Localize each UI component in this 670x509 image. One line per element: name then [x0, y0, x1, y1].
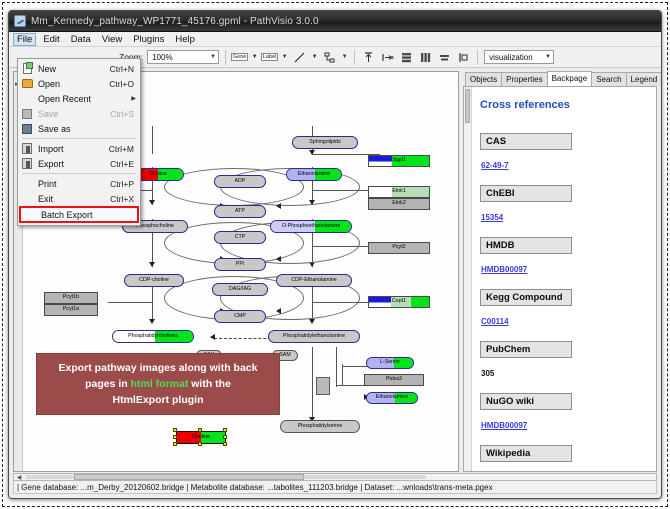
pathvisio-window: Mm_Kennedy_pathway_WP1771_45176.gpml - P…: [8, 10, 662, 499]
node-ethanolamine-bottom[interactable]: Ethanolamine: [366, 392, 418, 404]
node-label: L-Serine: [380, 360, 400, 365]
toolbar-separator-2: [354, 50, 355, 65]
menu-item-exit[interactable]: Exit Ctrl+X: [18, 191, 140, 206]
arrow-icon: [276, 256, 281, 262]
xref-link[interactable]: C00114: [480, 317, 509, 326]
node-label: Etnk1: [392, 189, 406, 194]
xref-key: NuGO wiki: [480, 393, 572, 410]
xref-pubchem: PubChem 305: [480, 339, 648, 381]
gene-etnk1[interactable]: Etnk1: [368, 186, 430, 198]
submenu-chevron-right-icon: ▶: [131, 95, 136, 102]
node-label: Etnk2: [392, 201, 406, 206]
align-top-tool-button[interactable]: [361, 50, 376, 65]
xref-link[interactable]: 15354: [480, 213, 503, 222]
node-label: ATP: [235, 209, 245, 214]
label-tool-chevron-down-icon[interactable]: ▼: [281, 54, 288, 60]
node-phosphatidylserine[interactable]: Phosphatidylserine: [280, 420, 360, 433]
gene-sgpl1[interactable]: Sgpl1: [368, 155, 430, 167]
menu-item-import[interactable]: Import Ctrl+M: [18, 141, 140, 156]
screenshot-root: Mm_Kennedy_pathway_WP1771_45176.gpml - P…: [0, 0, 670, 509]
anchor-tool-chevron-down-icon[interactable]: ▼: [341, 54, 348, 60]
xref-kegg-compound: Kegg Compound C00114: [480, 287, 648, 329]
connector: [336, 347, 337, 387]
backpage-scrollbar[interactable]: [464, 87, 472, 471]
menu-item-label: Open: [38, 79, 109, 89]
menu-item-label: Open Recent: [38, 94, 140, 104]
xref-link[interactable]: HMDB00097: [480, 421, 527, 430]
menu-item-open-recent[interactable]: Open Recent ▶: [18, 91, 140, 106]
menu-item-shortcut: Ctrl+N: [110, 64, 140, 74]
connector: [342, 364, 343, 386]
menu-item-label: Batch Export: [41, 210, 137, 220]
tab-properties[interactable]: Properties: [501, 72, 547, 86]
menu-item-label: Export: [38, 159, 110, 169]
new-document-icon: [20, 63, 34, 75]
line-icon: [293, 51, 306, 64]
node-label: SAM: [279, 353, 290, 358]
stack-center-tool-button[interactable]: [399, 50, 414, 65]
gene-box-icon: Gene: [231, 53, 248, 61]
node-label: Sphingolipids: [309, 140, 341, 145]
menu-item-shortcut: Ctrl+O: [109, 79, 140, 89]
menu-item-shortcut: Ctrl+X: [110, 194, 140, 204]
stack-icon: [400, 51, 413, 64]
menu-item-label: Save as: [38, 124, 134, 134]
node-l-serine[interactable]: L-Serine: [366, 357, 414, 369]
cross-references-heading: Cross references: [480, 99, 648, 111]
tab-search[interactable]: Search: [591, 72, 626, 86]
align-left-tool-button[interactable]: [380, 50, 395, 65]
distribute-tool-button[interactable]: [418, 50, 433, 65]
xref-nugo-wiki: NuGO wiki HMDB00097: [480, 391, 648, 433]
arrow-icon: [309, 319, 315, 324]
xref-key: CAS: [480, 133, 572, 150]
gene-tool-chevron-down-icon[interactable]: ▼: [251, 54, 258, 60]
menu-item-shortcut: Ctrl+S: [110, 109, 140, 119]
menu-item-export[interactable]: Export Ctrl+E: [18, 156, 140, 171]
node-label: Pcyt2: [392, 245, 405, 250]
backpage-content: Cross references CAS 62-49-7 ChEBI 15354…: [464, 87, 656, 472]
menu-item-save-as[interactable]: Save as: [18, 121, 140, 136]
menu-item-batch-export[interactable]: Batch Export: [19, 206, 139, 223]
gene-ptdss2[interactable]: Ptdss2: [364, 374, 424, 386]
node-label: DAG/IAG: [229, 287, 251, 292]
backpage-panel: Cross references CAS 62-49-7 ChEBI 15354…: [463, 86, 657, 472]
xref-link[interactable]: HMDB00097: [480, 265, 527, 274]
side-panel: Objects Properties Backpage Search Legen…: [461, 71, 657, 472]
gene-product-tool-button[interactable]: Gene: [232, 50, 247, 65]
node-label: Ethanolamine: [298, 172, 330, 177]
save-as-disk-icon: [20, 123, 34, 135]
node-sphingolipids[interactable]: Sphingolipids: [292, 136, 358, 149]
visualization-combobox[interactable]: visualization ▼: [484, 50, 554, 64]
node-o-phosphoethanolamine[interactable]: O-Phosphoethanolamine: [270, 220, 352, 233]
tab-backpage[interactable]: Backpage: [547, 71, 593, 86]
menu-item-print[interactable]: Print Ctrl+P: [18, 176, 140, 191]
height-icon: [457, 51, 470, 64]
common-height-tool-button[interactable]: [456, 50, 471, 65]
scrollbar-thumb[interactable]: [465, 89, 470, 123]
menu-item-label: Import: [38, 144, 109, 154]
blank-icon: [23, 209, 37, 221]
blank-icon: [20, 193, 34, 205]
menu-item-open[interactable]: Open Ctrl+O: [18, 76, 140, 91]
node-label: PPi: [236, 262, 244, 267]
node-label: Ethanolamine: [376, 395, 408, 400]
node-label: CMP: [234, 314, 246, 319]
xref-key: Kegg Compound: [480, 289, 572, 306]
menu-item-shortcut: Ctrl+P: [110, 179, 140, 189]
node-label: Cept1: [392, 299, 406, 304]
node-phosphatidylethanolamine[interactable]: Phosphatidylethanolamine: [268, 330, 360, 343]
xref-chebi: ChEBI 15354: [480, 183, 648, 225]
xref-key: PubChem: [480, 341, 572, 358]
node-label: CTP: [235, 235, 246, 240]
gene-pcyt2[interactable]: Pcyt2: [368, 242, 430, 254]
node-label: Sgpl1: [392, 158, 406, 163]
node-label: ADP: [235, 179, 246, 184]
menu-item-shortcut: Ctrl+E: [110, 159, 140, 169]
arrow-icon: [276, 203, 281, 209]
anchor-tool-button[interactable]: [322, 50, 337, 65]
xref-link[interactable]: 62-49-7: [480, 161, 509, 170]
menu-separator: [22, 173, 136, 174]
align-left-icon: [381, 51, 394, 64]
xref-key: HMDB: [480, 237, 572, 254]
menu-separator: [22, 138, 136, 139]
blank-icon: [20, 93, 34, 105]
side-panel-tabs: Objects Properties Backpage Search Legen…: [461, 71, 657, 86]
node-label: CDP-Ethanolamine: [291, 278, 336, 283]
import-icon: [20, 143, 34, 155]
node-label: O-Phosphoethanolamine: [282, 224, 341, 229]
save-disk-icon: [20, 108, 34, 120]
distribute-icon: [419, 51, 432, 64]
xref-wikipedia: Wikipedia Choline: [480, 443, 648, 472]
anchor-icon: [323, 51, 336, 64]
xref-key: ChEBI: [480, 185, 572, 202]
node-label: Ptdss2: [386, 377, 402, 382]
gene-cept1[interactable]: Cept1: [368, 296, 430, 308]
menu-item-label: Exit: [38, 194, 110, 204]
xref-key: Wikipedia: [480, 445, 572, 462]
connector: [312, 347, 313, 425]
common-width-tool-button[interactable]: [437, 50, 452, 65]
tab-objects[interactable]: Objects: [465, 72, 502, 86]
menu-item-label: Print: [38, 179, 110, 189]
line-tool-button[interactable]: [292, 50, 307, 65]
node-label: Phosphatidylethanolamine: [283, 334, 345, 339]
toolbar-separator-3: [477, 50, 478, 65]
xref-value: 305: [480, 369, 494, 378]
file-menu-popup: New Ctrl+N Open Ctrl+O Open Recent ▶ Sav…: [17, 58, 141, 226]
tab-legend[interactable]: Legend: [626, 72, 662, 86]
visualization-value: visualization: [489, 53, 533, 62]
menu-item-new[interactable]: New Ctrl+N: [18, 61, 140, 76]
pathway-note-box: [316, 377, 330, 395]
arrow-icon: [276, 308, 281, 314]
chevron-down-icon: ▼: [545, 54, 551, 60]
export-icon: [20, 158, 34, 170]
menu-item-label: New: [38, 64, 110, 74]
xref-cas: CAS 62-49-7: [480, 131, 648, 173]
node-ethanolamine-top[interactable]: Ethanolamine: [286, 168, 342, 181]
menu-item-save: Save Ctrl+S: [18, 106, 140, 121]
label-tool-button[interactable]: Label: [262, 50, 277, 65]
xref-hmdb: HMDB HMDB00097: [480, 235, 648, 277]
gene-etnk2[interactable]: Etnk2: [368, 198, 430, 210]
open-folder-icon: [20, 78, 34, 90]
blank-icon: [20, 178, 34, 190]
menu-item-shortcut: Ctrl+M: [109, 144, 140, 154]
label-icon: Label: [261, 53, 278, 61]
menu-item-label: Save: [38, 109, 110, 119]
node-label: Phosphatidylserine: [298, 424, 343, 429]
node-cdp-ethanolamine[interactable]: CDP-Ethanolamine: [276, 274, 352, 287]
align-top-icon: [362, 51, 375, 64]
width-icon: [438, 51, 451, 64]
line-tool-chevron-down-icon[interactable]: ▼: [311, 54, 318, 60]
